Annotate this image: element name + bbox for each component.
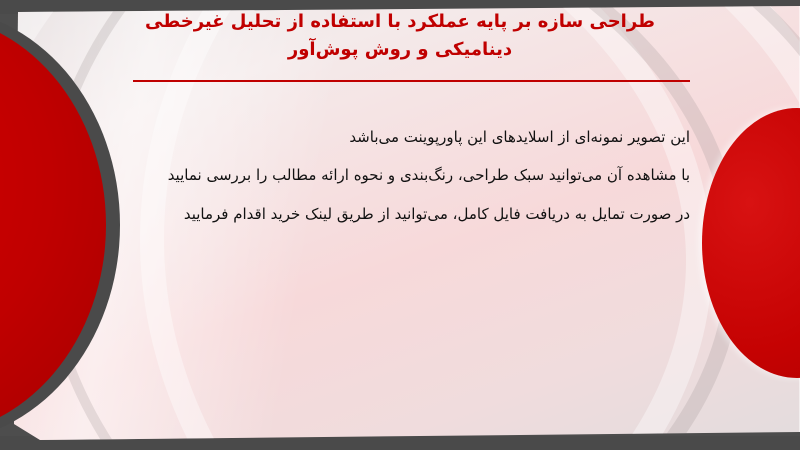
slide-content-plate [0,0,800,450]
presentation-slide: طراحی سازه بر پایه عملکرد با استفاده از … [0,0,800,450]
